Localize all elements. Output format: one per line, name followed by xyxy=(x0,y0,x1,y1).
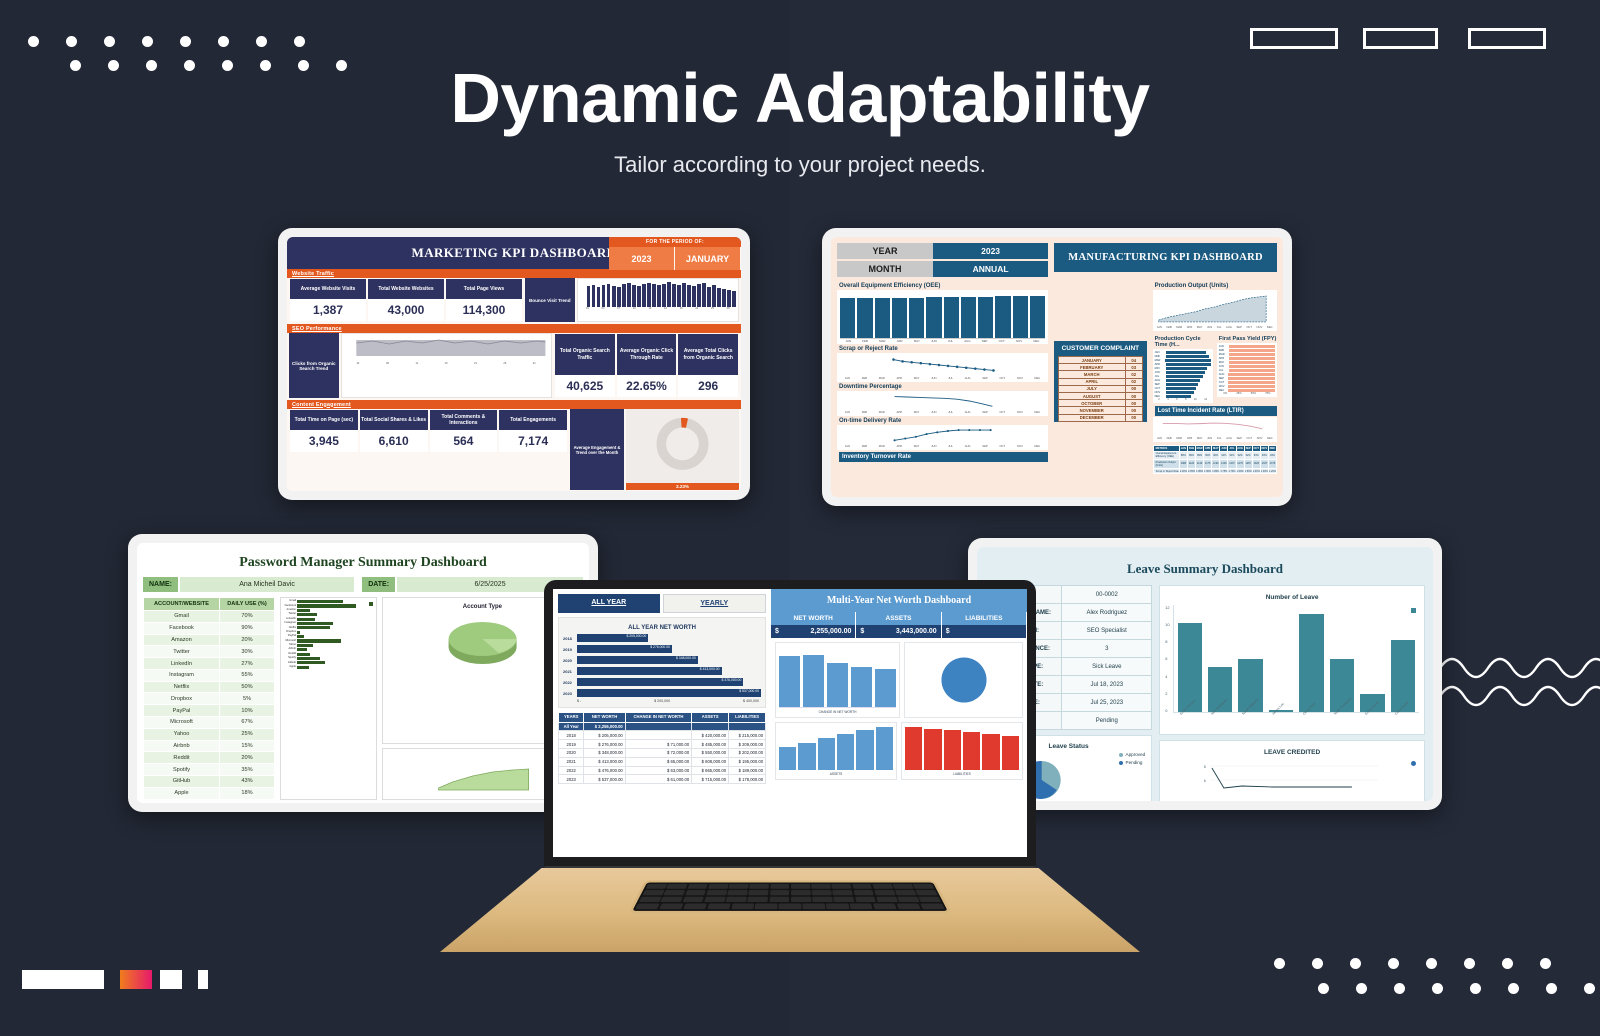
marketing-dashboard: MARKETING KPI DASHBOARD FOR THE PERIOD O… xyxy=(287,237,741,491)
cell-account: LinkedIn xyxy=(144,658,220,670)
cell-usage: 55% xyxy=(220,669,275,681)
kpi-label: Total Website Websites xyxy=(368,279,444,299)
keyboard-key[interactable] xyxy=(685,890,706,895)
svg-text:6: 6 xyxy=(1204,779,1206,783)
fpy-title: First Pass Yield (FPY) xyxy=(1219,336,1277,342)
table-row: Reddit20% xyxy=(144,752,275,764)
filter-month-label: MONTH xyxy=(837,261,933,277)
cell-account: Dropbox xyxy=(144,693,220,705)
period-year[interactable]: 2023 xyxy=(609,247,675,270)
keyboard-key[interactable] xyxy=(916,890,938,895)
dot-grid-bottom-right-row1 xyxy=(1274,958,1551,969)
usage-bar xyxy=(297,626,330,629)
networth-pie-chart xyxy=(904,642,1023,718)
cell-count: 02 xyxy=(1125,371,1142,378)
cell-count: 03 xyxy=(1125,364,1142,371)
cell-month: AUGUST xyxy=(1058,392,1125,399)
usage-bar-label: Facebook xyxy=(283,605,296,608)
usage-bar xyxy=(297,648,307,651)
networth-change-legend: CHANGE IN NET WORTH xyxy=(779,708,896,714)
networth-cell: 2020 xyxy=(559,748,584,757)
date-label: DATE: xyxy=(362,577,395,592)
name-label: NAME: xyxy=(143,577,178,592)
manufacturing-dashboard-device[interactable]: YEAR 2023 MONTH ANNUAL MANUFACTURING KPI… xyxy=(822,228,1292,506)
cell-count: 00 xyxy=(1125,400,1142,407)
networth-tabs[interactable]: ALL YEAR YEARLY xyxy=(558,594,766,613)
bounce-visit-chart: 01040710131619222528 xyxy=(577,278,740,322)
metrics-cell: 1080 xyxy=(1179,460,1187,469)
networth-cell: $ 537,000.00 xyxy=(584,775,625,784)
cell-usage: 20% xyxy=(220,634,275,646)
keyboard-key[interactable] xyxy=(687,884,708,889)
networth-cell xyxy=(625,722,691,731)
number-of-leave-y-axis: 121086420 xyxy=(1165,605,1172,713)
keyboard-key[interactable] xyxy=(853,890,874,895)
table-row: MARCH02 xyxy=(1058,371,1142,378)
cell-month: MARCH xyxy=(1058,371,1125,378)
cell-month: NOVEMBER xyxy=(1058,407,1125,414)
usage-bar-label: Twitter xyxy=(283,613,296,616)
wave-decoration xyxy=(1440,640,1600,720)
table-row: Scrap or Reject Rate2.20%2.05%1.95%1.90%… xyxy=(1153,468,1276,474)
outline-bar-1 xyxy=(1250,28,1338,49)
table-row: Instagram55% xyxy=(144,669,275,681)
kpi-organic-ctr: Average Organic Click Through Rate 22.65… xyxy=(616,333,678,398)
cycle-time-bars: JAN FEB MAR APR MAY JUN JUL AUG SEP xyxy=(1155,351,1211,398)
assets-legend: ASSETS xyxy=(779,770,893,776)
customer-complaint-panel: CUSTOMER COMPLAINT JANUARY04FEBRUARY03MA… xyxy=(1054,341,1146,422)
metrics-cell: 2.20% xyxy=(1179,468,1187,474)
keyboard-key[interactable] xyxy=(852,884,872,889)
metrics-cell: 1.40% xyxy=(1252,468,1260,474)
keyboard-key[interactable] xyxy=(661,897,683,903)
all-year-networth-chart: ALL YEAR NET WORTH 2018$ 205,000.00 2019… xyxy=(558,617,766,708)
metrics-cell: 91% xyxy=(1228,451,1236,460)
keyboard-key[interactable] xyxy=(707,903,731,909)
networth-dashboard: ALL YEAR YEARLY ALL YEAR NET WORTH 2018$… xyxy=(553,589,1027,857)
keyboard-key[interactable] xyxy=(872,884,893,889)
keyboard-key[interactable] xyxy=(831,884,851,889)
usage-bar-label: Netflix xyxy=(283,627,296,630)
laptop-mockup[interactable]: ALL YEAR YEARLY ALL YEAR NET WORTH 2018$… xyxy=(440,580,1140,960)
usage-bar xyxy=(297,666,309,669)
kpi-label: Total Page Views xyxy=(446,279,522,299)
metrics-cell: 1.90% xyxy=(1204,468,1212,474)
all-year-chart-title: ALL YEAR NET WORTH xyxy=(563,622,761,634)
keyboard-key[interactable] xyxy=(755,903,778,909)
usage-bar-row: Reddit xyxy=(283,653,374,656)
keyboard-key[interactable] xyxy=(849,903,873,909)
kpi-value: 22.65% xyxy=(617,375,677,397)
metrics-cell: 1337 xyxy=(1260,460,1268,469)
assets-chart: ASSETS xyxy=(775,722,897,780)
keyboard-key[interactable] xyxy=(683,903,707,909)
cell-usage: 25% xyxy=(220,728,275,740)
usage-bar-row: PayPal xyxy=(283,635,374,638)
table-row: 2020$ 348,000.00$ 72,000.00$ 550,000.00$… xyxy=(559,748,766,757)
keyboard-key[interactable] xyxy=(896,903,920,909)
table-row: 2021$ 413,000.00$ 65,000.00$ 608,000.00$… xyxy=(559,757,766,766)
metrics-cell: 88% xyxy=(1179,451,1187,460)
usage-bar-label: Instagram xyxy=(283,622,296,625)
metrics-cell: 90% xyxy=(1212,451,1220,460)
keyboard-key[interactable] xyxy=(895,890,917,895)
manufacturing-dashboard: YEAR 2023 MONTH ANNUAL MANUFACTURING KPI… xyxy=(831,237,1283,497)
metrics-cell: 94% xyxy=(1268,451,1276,460)
kpi-label: Total Engagements xyxy=(499,410,567,430)
summary-assets: ASSETS $3,443,000.00 xyxy=(856,612,941,638)
keyboard-key[interactable] xyxy=(729,884,749,889)
usage-bar-row: Microsoft xyxy=(283,639,374,642)
kpi-comments: Total Comments & Interactions 564 xyxy=(429,409,499,490)
networth-cell: $ 476,000.00 xyxy=(584,766,625,775)
kpi-value: 296 xyxy=(678,375,738,397)
kpi-organic-search-traffic: Total Organic Search Traffic 40,625 xyxy=(554,333,616,398)
kpi-label: Average Total Clicks from Organic Search xyxy=(678,334,738,375)
networth-cell xyxy=(729,722,766,731)
metrics-cell: 1140 xyxy=(1196,460,1204,469)
cell-month: JULY xyxy=(1058,385,1125,392)
networth-cell: $ 715,000.00 xyxy=(692,775,729,784)
kpi-label: Average Organic Click Through Rate xyxy=(617,334,677,375)
outline-bar-3 xyxy=(1468,28,1546,49)
networth-cell: $ 420,000.00 xyxy=(692,731,729,740)
scrap-chart: JANFEBMARAPRMAYJUN JULAUGSEPOCTNOVDEC xyxy=(837,353,1048,382)
table-row: Facebook90% xyxy=(144,622,275,634)
networth-cell xyxy=(625,731,691,740)
usage-bar-row: LinkedIn xyxy=(283,618,374,621)
networth-cell: $ 205,000.00 xyxy=(584,731,625,740)
cell-usage: 43% xyxy=(220,775,275,787)
cell-account: Twitter xyxy=(144,646,220,658)
table-row: Gmail70% xyxy=(144,611,275,623)
keyboard-key[interactable] xyxy=(706,890,727,895)
cell-account: Facebook xyxy=(144,622,220,634)
keyboard-key[interactable] xyxy=(708,884,728,889)
table-row: Microsoft67% xyxy=(144,717,275,729)
keyboard-key[interactable] xyxy=(826,903,849,909)
usage-bar-row: Apple xyxy=(283,666,374,669)
laptop-screen[interactable]: ALL YEAR YEARLY ALL YEAR NET WORTH 2018$… xyxy=(553,589,1027,857)
networth-cell: 2018 xyxy=(559,731,584,740)
engagement-trend-label: Average Engagement & Trend over the Mont… xyxy=(570,409,624,490)
metrics-cell: 1.20% xyxy=(1268,468,1276,474)
section-seo: SEO Performance xyxy=(287,324,741,333)
keyboard-key[interactable] xyxy=(747,897,768,903)
keyboard-key[interactable] xyxy=(682,897,704,903)
metrics-cell: 1175 xyxy=(1204,460,1212,469)
summary-label: NET WORTH xyxy=(771,612,855,625)
seo-trend-label: Clicks from Organic Search Trend xyxy=(289,333,339,398)
keyboard-key[interactable] xyxy=(918,897,941,903)
marketing-dashboard-device[interactable]: MARKETING KPI DASHBOARD FOR THE PERIOD O… xyxy=(278,228,750,500)
keyboard-key[interactable] xyxy=(748,890,768,895)
table-row: Production Output (Units)108011201140117… xyxy=(1153,460,1276,469)
metrics-cell: Production Output (Units) xyxy=(1153,460,1179,469)
table-row: APRIL02 xyxy=(1058,378,1142,385)
keyboard-key[interactable] xyxy=(642,890,664,895)
networth-cell: $ 608,000.00 xyxy=(692,757,729,766)
filter-year-value[interactable]: 2023 xyxy=(933,243,1048,259)
summary-currency: $ xyxy=(946,628,950,635)
keyboard-key[interactable] xyxy=(639,897,662,903)
kpi-value: 114,300 xyxy=(446,299,522,321)
keyboard-key[interactable] xyxy=(920,903,945,909)
keyboard-key[interactable] xyxy=(726,897,747,903)
networth-cell: $ 209,000.00 xyxy=(729,740,766,749)
usage-bar xyxy=(297,644,313,647)
usage-bar-label: LinkedIn xyxy=(283,618,296,621)
table-row: LinkedIn27% xyxy=(144,658,275,670)
metrics-table-rows: Overall Equipment Efficiency (OEE)88%89%… xyxy=(1153,451,1276,474)
downtime-chart: JANFEBMARAPRMAYJUN JULAUGSEPOCTNOVDEC xyxy=(837,391,1048,416)
production-output-chart: JANFEBMARAPRMAYJUN JULAUGSEPOCTNOVDEC xyxy=(1153,290,1277,331)
section-content: Content Engagement xyxy=(287,400,741,409)
usage-bar-label: Apple xyxy=(283,666,296,669)
keyboard-key[interactable] xyxy=(704,897,725,903)
number-of-leave-card: Number of Leave 121086420 xyxy=(1159,585,1425,735)
table-row: GitHub43% xyxy=(144,775,275,787)
kpi-label: Total Social Shares & Likes xyxy=(360,410,428,430)
cell-count: 00 xyxy=(1125,385,1142,392)
keyboard-key[interactable] xyxy=(811,884,831,889)
keyboard-key[interactable] xyxy=(893,884,914,889)
keyboard-key[interactable] xyxy=(659,903,683,909)
usage-bar xyxy=(297,635,304,638)
delivery-chart: JANFEBMARAPRMAYJUN JULAUGSEPOCTNOVDEC xyxy=(837,425,1048,450)
usage-bar xyxy=(297,600,343,603)
keyboard-key[interactable] xyxy=(769,897,789,903)
table-row: Overall Equipment Efficiency (OEE)88%89%… xyxy=(1153,451,1276,460)
table-row: All Year$ 2,255,000.00 xyxy=(559,722,766,731)
networth-column-chart: CHANGE IN NET WORTH xyxy=(775,642,900,718)
usage-bar-label: Spotify xyxy=(283,657,296,660)
kpi-total-engagements: Total Engagements 7,174 xyxy=(498,409,568,490)
networth-cell: $ 61,000.00 xyxy=(625,775,691,784)
period-month[interactable]: JANUARY xyxy=(675,247,741,270)
metrics-cell: 1225 xyxy=(1220,460,1228,469)
kpi-value: 7,174 xyxy=(499,430,567,452)
summary-net-worth: NET WORTH $2,255,000.00 xyxy=(771,612,856,638)
keyboard-row xyxy=(635,903,945,909)
metrics-cell: Overall Equipment Efficiency (OEE) xyxy=(1153,451,1179,460)
laptop-lid: ALL YEAR YEARLY ALL YEAR NET WORTH 2018$… xyxy=(544,580,1036,870)
marketing-period: FOR THE PERIOD OF: 2023 JANUARY xyxy=(609,237,741,274)
usage-bar-row: Gmail xyxy=(283,600,374,603)
filter-month-value[interactable]: ANNUAL xyxy=(933,261,1048,277)
keyboard-key[interactable] xyxy=(635,903,660,909)
networth-cell: $ 276,000.00 xyxy=(584,740,625,749)
table-row: 2022$ 476,000.00$ 63,000.00$ 665,000.00$… xyxy=(559,766,766,775)
networth-col-header: NET WORTH xyxy=(584,713,625,723)
name-field[interactable]: NAME: Ana Micheil Davic xyxy=(143,577,354,592)
usage-bar xyxy=(297,613,317,616)
cell-month: DECEMBER xyxy=(1058,414,1125,421)
metrics-cell: 1275 xyxy=(1236,460,1244,469)
metrics-cell: 93% xyxy=(1252,451,1260,460)
kpi-label: Total Comments & Interactions xyxy=(430,410,498,430)
networth-cell: 2021 xyxy=(559,757,584,766)
usage-bar xyxy=(297,661,325,664)
oee-chart-title: Overall Equipment Efficiency (OEE) xyxy=(839,283,1048,289)
networth-title: Multi-Year Net Worth Dashboard xyxy=(771,589,1027,612)
summary-value: 2,255,000.00 xyxy=(810,628,851,635)
keyboard-key[interactable] xyxy=(770,884,789,889)
laptop-keyboard[interactable] xyxy=(632,883,947,911)
keyboard-key[interactable] xyxy=(749,884,769,889)
keyboard-row xyxy=(646,884,935,889)
tab-yearly[interactable]: YEARLY xyxy=(663,594,767,613)
networth-cell: $ 215,000.00 xyxy=(729,731,766,740)
usage-bar-row: Amazon xyxy=(283,609,374,612)
usage-bar-row: Airbnb xyxy=(283,648,374,651)
table-row: JULY00 xyxy=(1058,385,1142,392)
customer-complaint-rows: JANUARY04FEBRUARY03MARCH02APRIL02JULY00A… xyxy=(1058,357,1142,422)
manufacturing-title: MANUFACTURING KPI DASHBOARD xyxy=(1054,243,1277,272)
kpi-organic-total-clicks: Average Total Clicks from Organic Search… xyxy=(677,333,739,398)
customer-complaint-title: CUSTOMER COMPLAINT xyxy=(1054,341,1146,356)
keyboard-key[interactable] xyxy=(873,903,897,909)
account-usage-bar-chart: GmailFacebookAmazonTwitterLinkedInInstag… xyxy=(280,597,377,800)
keyboard-key[interactable] xyxy=(666,884,687,889)
cell-count: 02 xyxy=(1125,378,1142,385)
metrics-cell: 91% xyxy=(1220,451,1228,460)
keyboard-key[interactable] xyxy=(874,890,895,895)
keyboard-key[interactable] xyxy=(791,884,810,889)
cell-account: Reddit xyxy=(144,752,220,764)
keyboard-key[interactable] xyxy=(833,897,854,903)
engagement-trend-value: 3.23% xyxy=(626,483,739,490)
keyboard-key[interactable] xyxy=(646,884,668,889)
keyboard-key[interactable] xyxy=(803,903,826,909)
usage-bar xyxy=(297,631,300,634)
table-row: NOVEMBER00 xyxy=(1058,407,1142,414)
cell-usage: 30% xyxy=(220,646,275,658)
password-dashboard-title: Password Manager Summary Dashboard xyxy=(143,547,583,577)
cell-month: OCTOBER xyxy=(1058,400,1125,407)
kpi-label: Total Organic Search Traffic xyxy=(555,334,615,375)
kpi-time-on-page: Total Time on Page (sec) 3,945 xyxy=(289,409,359,490)
usage-bar xyxy=(297,657,320,660)
cell-usage: 20% xyxy=(220,752,275,764)
metrics-cell: 1.30% xyxy=(1260,468,1268,474)
customer-complaint-table: JANUARY04FEBRUARY03MARCH02APRIL02JULY00A… xyxy=(1058,356,1143,422)
networth-table: YEARSNET WORTHCHANGE IN NET WORTHASSETSL… xyxy=(558,712,766,784)
keyboard-key[interactable] xyxy=(779,903,801,909)
networth-cell: $ 65,000.00 xyxy=(625,757,691,766)
networth-cell: $ 348,000.00 xyxy=(584,748,625,757)
networth-cell: All Year xyxy=(559,722,584,731)
keyboard-row xyxy=(639,897,941,903)
keyboard-key[interactable] xyxy=(913,884,935,889)
solid-bar-1 xyxy=(22,970,104,989)
metrics-cell: 1237 xyxy=(1228,460,1236,469)
metrics-cell: 1.60% xyxy=(1236,468,1244,474)
metrics-cell: 1.80% xyxy=(1212,468,1220,474)
number-of-leave-title: Number of Leave xyxy=(1165,590,1419,605)
usage-bar-row: Spotify xyxy=(283,657,374,660)
cycle-time-title: Production Cycle Time (H... xyxy=(1155,336,1213,348)
cycle-time-chart: JAN FEB MAR APR MAY JUN JUL AUG SEP xyxy=(1153,349,1213,403)
cell-count: 00 xyxy=(1125,407,1142,414)
svg-text:8: 8 xyxy=(1204,765,1206,769)
filter-year-label: YEAR xyxy=(837,243,933,259)
usage-bar-label: GitHub xyxy=(283,662,296,665)
kpi-value: 564 xyxy=(430,430,498,452)
leave-credited-card: LEAVE CREDITED 8 6 xyxy=(1159,740,1425,801)
usage-bar xyxy=(297,653,310,656)
kpi-value: 43,000 xyxy=(368,299,444,321)
cell-usage: 10% xyxy=(220,705,275,717)
usage-bar-row: Instagram xyxy=(283,622,374,625)
keyboard-key[interactable] xyxy=(727,890,748,895)
metrics-cell: 1.95% xyxy=(1196,468,1204,474)
cell-month: JANUARY xyxy=(1058,357,1125,364)
summary-liabilities: LIABILITIES $ xyxy=(942,612,1027,638)
networth-col-header: ASSETS xyxy=(692,713,729,723)
keyboard-key[interactable] xyxy=(876,897,898,903)
keyboard-key[interactable] xyxy=(731,903,754,909)
networth-table-header: YEARSNET WORTHCHANGE IN NET WORTHASSETSL… xyxy=(559,713,766,723)
keyboard-key[interactable] xyxy=(791,897,811,903)
metrics-cell: 89% xyxy=(1187,451,1195,460)
networth-cell: 2022 xyxy=(559,766,584,775)
name-value[interactable]: Ana Micheil Davic xyxy=(180,577,354,592)
summary-label: ASSETS xyxy=(856,612,940,625)
period-label: FOR THE PERIOD OF: xyxy=(609,237,741,247)
summary-currency: $ xyxy=(775,628,779,635)
usage-bar-label: PayPal xyxy=(283,635,296,638)
solid-bar-3 xyxy=(198,970,208,989)
metrics-cell: 1190 xyxy=(1212,460,1220,469)
solid-bar-2 xyxy=(160,970,182,989)
inventory-chart-title: Inventory Turnover Rate xyxy=(839,452,1048,462)
table-row: DECEMBER00 xyxy=(1058,414,1142,421)
cell-usage: 27% xyxy=(220,658,275,670)
metrics-cell: 1120 xyxy=(1187,460,1195,469)
keyboard-key[interactable] xyxy=(832,890,853,895)
cell-count: 04 xyxy=(1125,357,1142,364)
dot-grid-bottom-right-row2 xyxy=(1318,983,1595,994)
metrics-cell: 92% xyxy=(1236,451,1244,460)
usage-bar-row: Facebook xyxy=(283,604,374,607)
keyboard-key[interactable] xyxy=(812,890,832,895)
summary-value: 3,443,000.00 xyxy=(896,628,937,635)
usage-bar xyxy=(297,618,315,621)
keyboard-key[interactable] xyxy=(663,890,685,895)
keyboard-row xyxy=(642,890,937,895)
keyboard-key[interactable] xyxy=(770,890,790,895)
kpi-value: 40,625 xyxy=(555,375,615,397)
keyboard-key[interactable] xyxy=(812,897,833,903)
engagement-donut-chart: 3.23% xyxy=(626,409,739,490)
page-title: Dynamic Adaptability xyxy=(0,58,1600,138)
keyboard-key[interactable] xyxy=(855,897,876,903)
leave-credited-title: LEAVE CREDITED xyxy=(1165,745,1419,760)
usage-bar xyxy=(297,609,310,612)
manufacturing-filters[interactable]: YEAR 2023 MONTH ANNUAL xyxy=(837,243,1048,277)
networth-cell: $ 550,000.00 xyxy=(692,748,729,757)
networth-cell: $ 485,000.00 xyxy=(692,740,729,749)
keyboard-key[interactable] xyxy=(897,897,919,903)
bounce-chart-ticks: 01040710131619222528 xyxy=(580,307,737,310)
cell-month: APRIL xyxy=(1058,378,1125,385)
cell-account: Spotify xyxy=(144,764,220,776)
production-output-title: Production Output (Units) xyxy=(1155,283,1277,289)
metrics-cell: 93% xyxy=(1260,451,1268,460)
keyboard-key[interactable] xyxy=(791,890,811,895)
tab-all-year[interactable]: ALL YEAR xyxy=(558,594,660,613)
